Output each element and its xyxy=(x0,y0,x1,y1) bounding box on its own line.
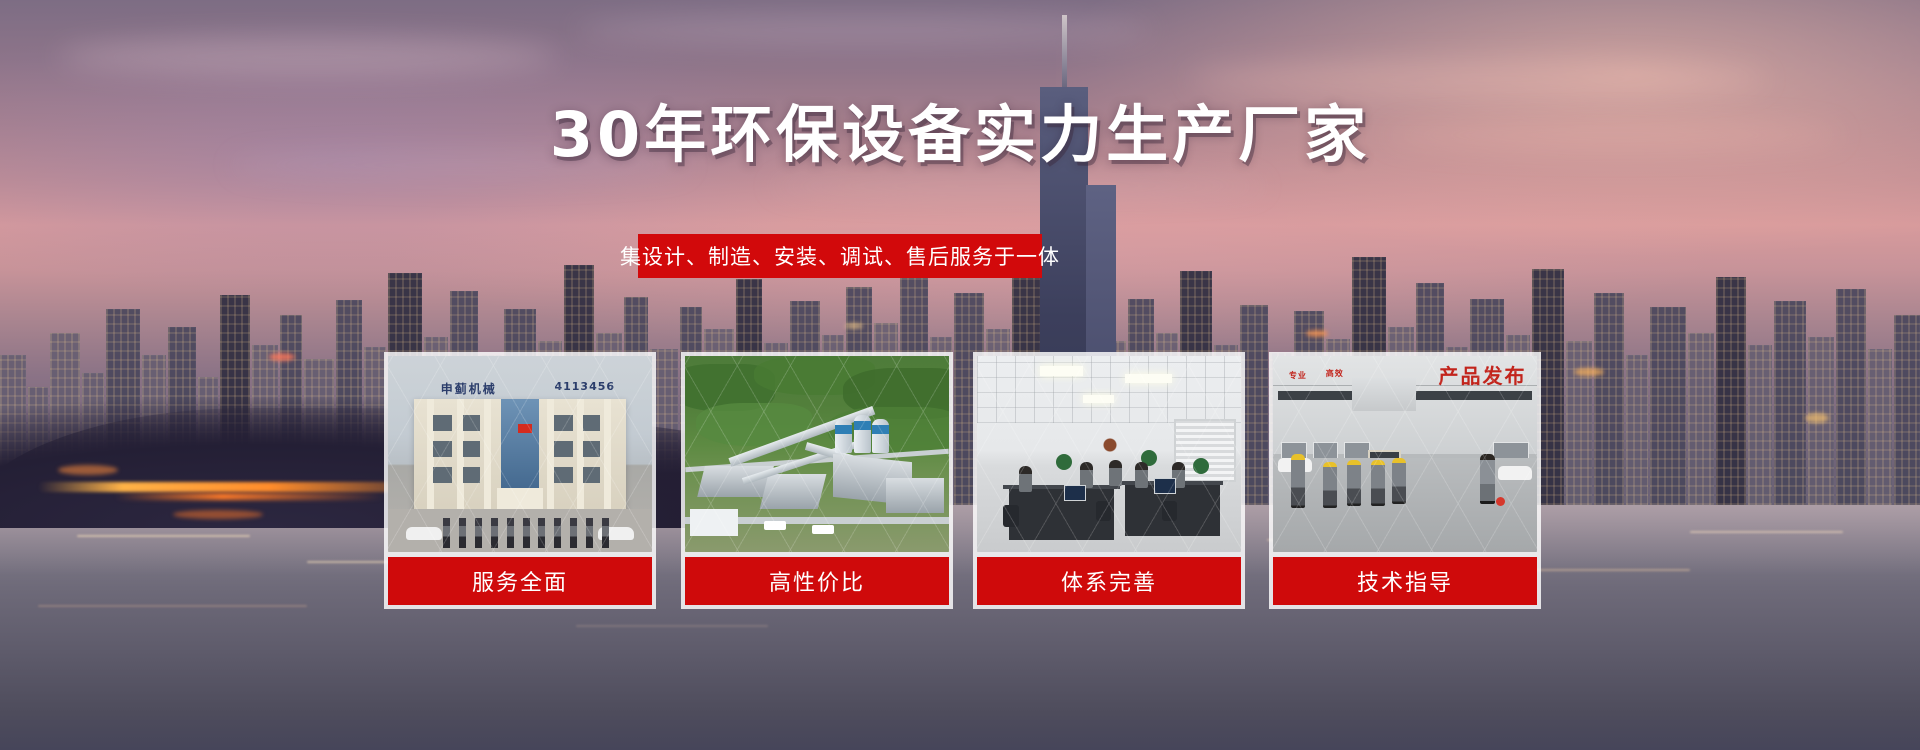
card-caption: 技术指导 xyxy=(1273,557,1537,605)
building-sign-text: 申蓟机械 xyxy=(441,380,497,397)
card-caption: 体系完善 xyxy=(977,557,1241,605)
factory-slogan-2: 高效 xyxy=(1326,368,1344,379)
feature-card[interactable]: 高性价比 xyxy=(681,352,953,609)
card-photo-office-building: 申蓟机械 4113456 xyxy=(388,356,652,552)
card-caption: 服务全面 xyxy=(388,557,652,605)
feature-card[interactable]: 申蓟机械 4113456 xyxy=(384,352,656,609)
card-photo-office-interior xyxy=(977,356,1241,552)
building-phone-text: 4113456 xyxy=(554,380,615,393)
subtitle-text: 集设计、制造、安装、调试、售后服务于一体 xyxy=(620,241,1060,271)
feature-card-list: 申蓟机械 4113456 xyxy=(0,352,1920,614)
card-photo-aerial-plant xyxy=(685,356,949,552)
subtitle-banner: 集设计、制造、安装、调试、售后服务于一体 xyxy=(638,234,1042,278)
card-photo-factory-yard: 产品发布 专业 高效 xyxy=(1273,356,1537,552)
card-caption: 高性价比 xyxy=(685,557,949,605)
factory-slogan-1: 专业 xyxy=(1289,370,1307,381)
feature-card[interactable]: 产品发布 专业 高效 xyxy=(1269,352,1541,609)
feature-card[interactable]: 体系完善 xyxy=(973,352,1245,609)
hero-banner: 30年环保设备实力生产厂家 集设计、制造、安装、调试、售后服务于一体 申蓟机械 … xyxy=(0,0,1920,750)
page-title: 30年环保设备实力生产厂家 xyxy=(0,104,1920,166)
